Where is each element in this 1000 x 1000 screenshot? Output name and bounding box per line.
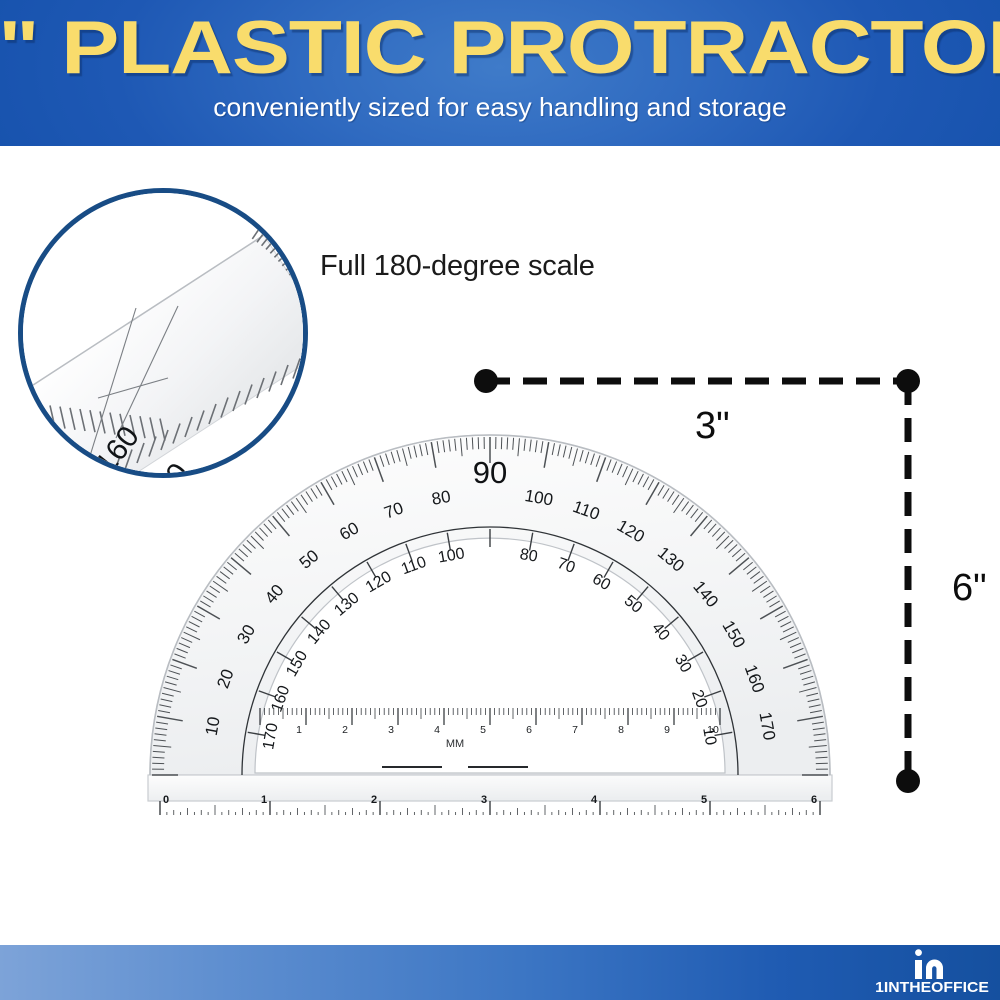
inch-tick-label-6: 6: [811, 794, 817, 806]
mm-tick-label-5: 5: [480, 724, 486, 736]
inch-tick-label-0: 0: [163, 794, 169, 806]
dimension-dot-corner: [896, 369, 920, 393]
page-subtitle: conveniently sized for easy handling and…: [0, 92, 1000, 122]
inch-tick-label-1: 1: [261, 794, 267, 806]
magnifier-callout-circle: 160201701005: [18, 188, 308, 478]
mm-unit-label: MM: [446, 738, 464, 750]
degree-label-outer-80: 80: [430, 487, 452, 509]
mm-tick-label-3: 3: [388, 724, 394, 736]
mm-tick-label-10: 10: [707, 724, 719, 736]
inch-tick-label-2: 2: [371, 794, 377, 806]
mm-tick-label-7: 7: [572, 724, 578, 736]
page-title: 6" PLASTIC PROTRACTOR: [0, 7, 1000, 87]
infographic-canvas: 6" PLASTIC PROTRACTOR conveniently sized…: [0, 0, 1000, 1000]
degree-label-outer-10: 10: [202, 715, 224, 737]
dimension-dot-left: [474, 369, 498, 393]
magnified-protractor-corner: 160201701005: [18, 188, 308, 478]
dimension-label-width: 3": [695, 406, 730, 446]
mm-tick-label-2: 2: [342, 724, 348, 736]
callout-label: Full 180-degree scale: [320, 249, 595, 283]
inch-tick-label-3: 3: [481, 794, 487, 806]
inch-tick-label-4: 4: [591, 794, 598, 806]
mm-tick-label-4: 4: [434, 724, 440, 736]
header-banner: 6" PLASTIC PROTRACTOR conveniently sized…: [0, 0, 1000, 146]
degree-label-inner-80: 80: [518, 546, 539, 566]
mm-tick-label-1: 1: [296, 724, 302, 736]
degree-label-90: 90: [473, 455, 507, 490]
brand-name: 1INTHEOFFICE: [873, 979, 991, 996]
magnifier-content: 160201701005: [18, 188, 308, 478]
brand-logo: 1INTHEOFFICE: [876, 948, 988, 998]
mm-tick-label-9: 9: [664, 724, 670, 736]
dimension-label-height: 6": [952, 568, 987, 608]
inch-tick-label-5: 5: [701, 794, 707, 806]
in-logo-icon: [910, 949, 956, 979]
mm-tick-label-6: 6: [526, 724, 532, 736]
dimension-dot-bottom: [896, 769, 920, 793]
mm-tick-label-8: 8: [618, 724, 624, 736]
footer-bar: [0, 945, 1000, 1000]
